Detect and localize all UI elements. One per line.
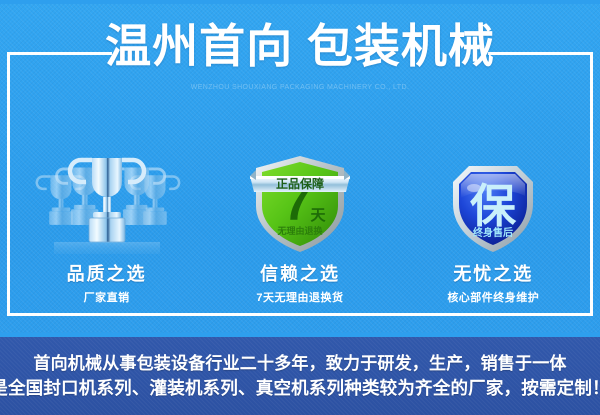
- feature-subtitle: 7天无理由退换货: [256, 291, 343, 305]
- svg-text:终身售后: 终身售后: [473, 226, 513, 239]
- feature-subtitle: 厂家直销: [84, 291, 130, 305]
- feature-title: 品质之选: [67, 263, 147, 285]
- page-title: 温州首向 包装机械: [0, 18, 600, 74]
- feature-item-trust: 7 天 无理由退换 正品保障 信赖之选 7天无理由退换货: [203, 148, 396, 305]
- feature-item-quality: 品质之选 厂家直销: [10, 148, 203, 305]
- footer-line-1: 首向机械从事包装设备行业二十多年，致力于研发，生产，销售于一体: [33, 351, 566, 376]
- promo-banner: 温州首向 包装机械 WENZHOU SHOUXIANG PACKAGING MA…: [0, 0, 600, 415]
- feature-title: 无忧之选: [453, 263, 533, 285]
- feature-title: 信赖之选: [260, 263, 340, 285]
- frame-line-bottom: [7, 313, 593, 316]
- feature-list: 品质之选 厂家直销: [10, 148, 590, 308]
- top-strip: [0, 0, 600, 4]
- page-subtitle: WENZHOU SHOUXIANG PACKAGING MACHINERY CO…: [0, 83, 600, 92]
- footer-line-2: 是全国封口机系列、灌装机系列、真空机系列种类较为齐全的厂家，按需定制！: [0, 376, 600, 401]
- svg-text:天: 天: [310, 207, 326, 224]
- svg-text:保: 保: [470, 180, 517, 232]
- svg-text:正品保障: 正品保障: [276, 176, 324, 191]
- svg-text:无理由退换: 无理由退换: [276, 225, 323, 236]
- blue-shield-icon: 保 终身售后: [441, 148, 545, 256]
- feature-item-worryfree: 保 终身售后 无忧之选 核心部件终身维护: [397, 148, 590, 305]
- feature-subtitle: 核心部件终身维护: [447, 291, 539, 305]
- footer-banner: 首向机械从事包装设备行业二十多年，致力于研发，生产，销售于一体 是全国封口机系列…: [0, 337, 600, 415]
- trophy-cluster-icon: [32, 148, 182, 256]
- green-shield-icon: 7 天 无理由退换 正品保障: [248, 148, 352, 256]
